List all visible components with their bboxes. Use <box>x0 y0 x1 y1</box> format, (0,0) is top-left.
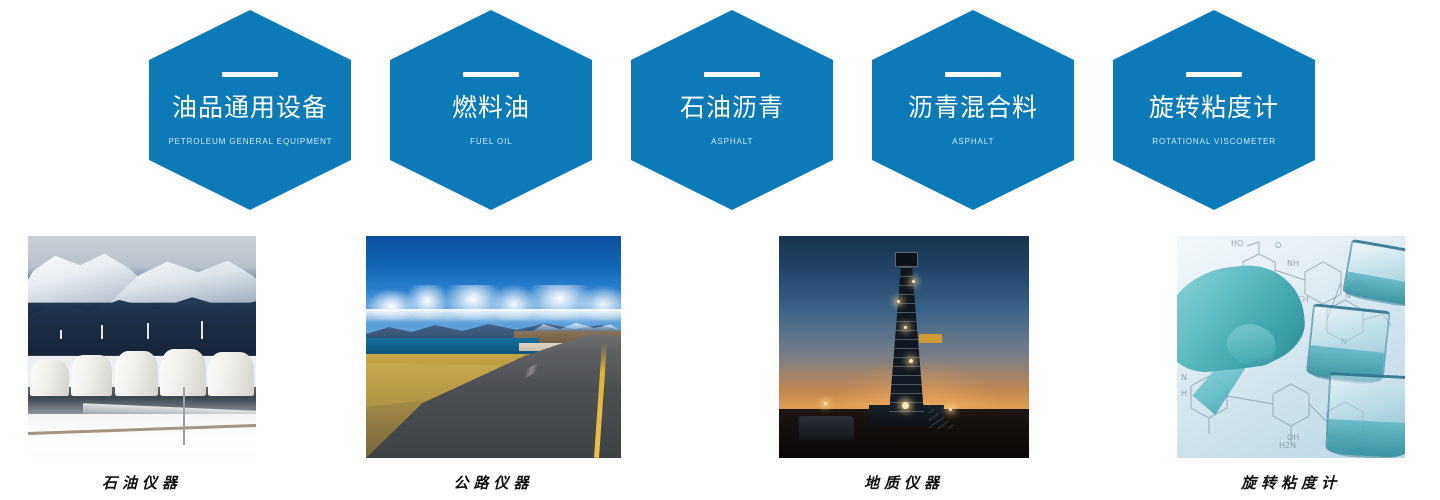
rig-light <box>912 280 915 283</box>
vent-stack <box>201 321 203 339</box>
divider-rule <box>222 72 278 77</box>
svg-text:N: N <box>1181 373 1187 382</box>
svg-text:H: H <box>1181 389 1187 398</box>
svg-text:H2N: H2N <box>1279 441 1296 450</box>
divider-rule <box>704 72 760 77</box>
divider-rule <box>1186 72 1242 77</box>
rig-light <box>897 300 900 303</box>
storage-tank <box>115 351 158 396</box>
showcase-item-highway[interactable]: 公路仪器 <box>366 236 621 493</box>
showcase-item-petroleum[interactable]: 石油仪器 <box>28 236 256 493</box>
snow-field <box>28 414 256 458</box>
storage-tank <box>208 352 254 396</box>
svg-text:NH: NH <box>1287 259 1299 268</box>
showcase-item-geological[interactable]: 地质仪器 <box>779 236 1029 493</box>
storage-tank <box>71 355 112 395</box>
photo-drilling-rig-dusk[interactable] <box>779 236 1029 458</box>
showcase-caption: 地质仪器 <box>779 472 1029 493</box>
hex-category-asphalt-mixture[interactable]: 沥青混合料 ASPHALT <box>872 10 1074 210</box>
divider-rule <box>945 72 1001 77</box>
hex-category-fuel-oil[interactable]: 燃料油 FUEL OIL <box>390 10 592 210</box>
tube-liquid <box>1327 419 1405 458</box>
vent-stack <box>147 323 149 339</box>
hex-category-asphalt[interactable]: 石油沥青 ASPHALT <box>631 10 833 210</box>
divider-rule <box>463 72 519 77</box>
cloud-base <box>366 309 621 322</box>
storage-tank <box>30 360 69 396</box>
rig-light <box>902 402 909 409</box>
service-truck <box>799 416 854 440</box>
hex-category-rotational-viscometer[interactable]: 旋转粘度计 ROTATIONAL VISCOMETER <box>1113 10 1315 210</box>
hex-category-petroleum-general-equipment[interactable]: 油品通用设备 PETROLEUM GENERAL EQUIPMENT <box>149 10 351 210</box>
rig-light <box>824 402 827 405</box>
hex-subtitle: PETROLEUM GENERAL EQUIPMENT <box>168 136 332 146</box>
test-tube <box>1325 372 1405 458</box>
hex-subtitle: ROTATIONAL VISCOMETER <box>1152 136 1276 146</box>
hex-subtitle: ASPHALT <box>711 136 753 146</box>
hex-category-row: 油品通用设备 PETROLEUM GENERAL EQUIPMENT 燃料油 F… <box>0 0 1440 220</box>
photo-snow-mountain-refinery[interactable] <box>28 236 256 458</box>
photo-laboratory-chemistry[interactable]: HO O NH HO NH CH N N N H H2N OH <box>1177 236 1405 458</box>
showcase-caption: 公路仪器 <box>366 472 621 493</box>
showcase-caption: 石油仪器 <box>28 472 256 493</box>
hex-title: 油品通用设备 <box>172 95 328 123</box>
hex-title: 燃料油 <box>452 95 530 123</box>
hex-subtitle: ASPHALT <box>952 136 994 146</box>
monkey-board <box>919 334 942 343</box>
showcase-item-viscometer[interactable]: HO O NH HO NH CH N N N H H2N OH <box>1177 236 1405 493</box>
vent-stack <box>60 330 62 339</box>
utility-pole <box>183 387 185 445</box>
svg-text:HO: HO <box>1231 239 1243 248</box>
vent-stack <box>101 325 103 339</box>
photo-highway-lake-mountains[interactable] <box>366 236 621 458</box>
hex-title: 石油沥青 <box>680 95 784 123</box>
rig-light <box>909 359 913 363</box>
svg-text:O: O <box>1275 241 1281 250</box>
hex-title: 旋转粘度计 <box>1149 95 1279 123</box>
crown-block <box>895 252 918 268</box>
photo-showcase-row: 石油仪器 公路仪器 <box>0 236 1440 500</box>
storage-tank-group <box>28 338 256 396</box>
showcase-caption: 旋转粘度计 <box>1177 472 1405 493</box>
product-category-showcase: 油品通用设备 PETROLEUM GENERAL EQUIPMENT 燃料油 F… <box>0 0 1440 500</box>
hex-title: 沥青混合料 <box>908 95 1038 123</box>
svg-text:OH: OH <box>1287 433 1299 442</box>
hex-subtitle: FUEL OIL <box>470 136 512 146</box>
